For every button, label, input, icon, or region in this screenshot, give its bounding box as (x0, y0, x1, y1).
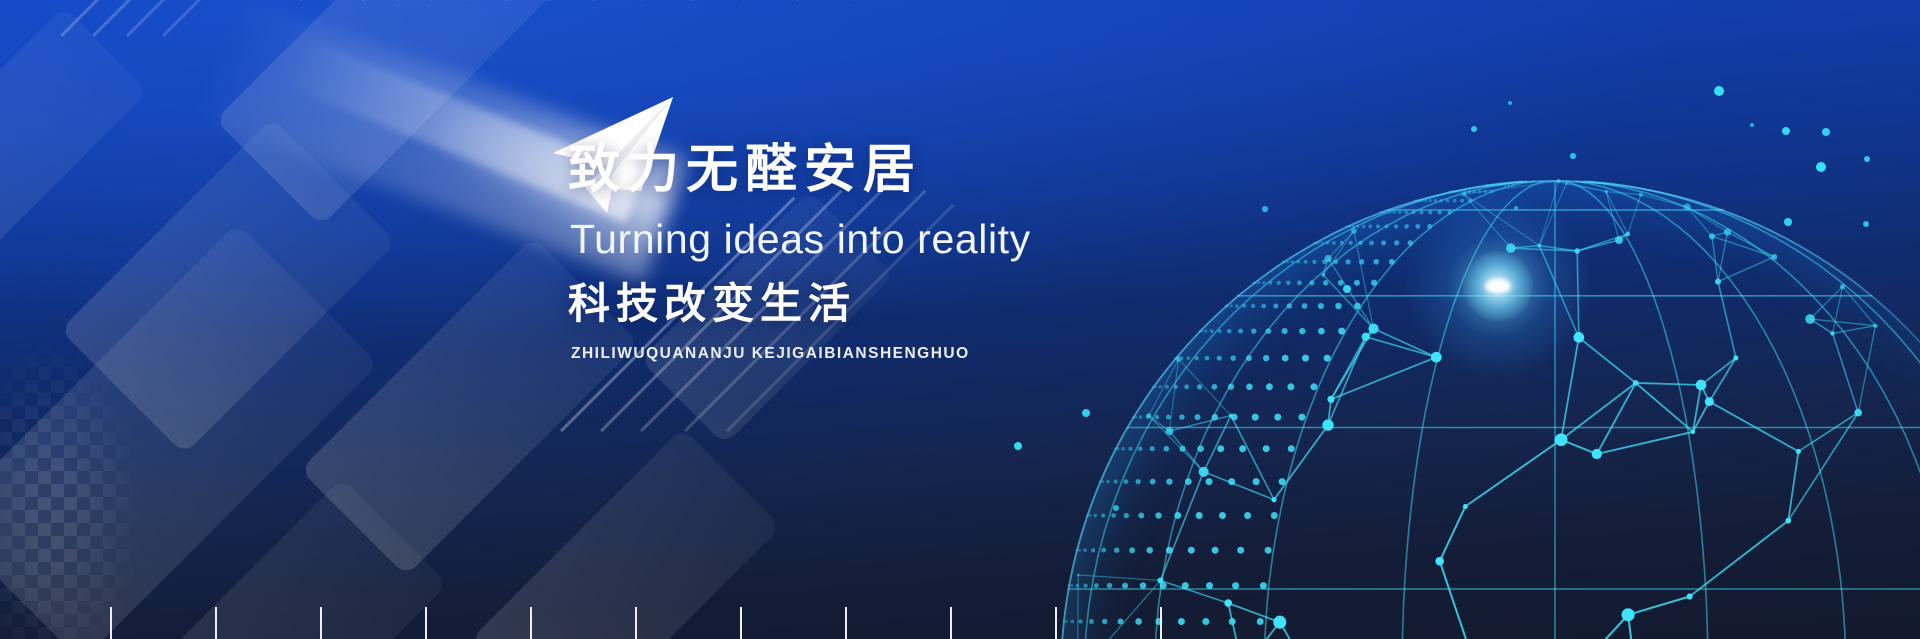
diagonal-hairline (362, 0, 972, 1)
ruler-tick (635, 607, 637, 639)
ruler-tick (530, 607, 532, 639)
ruler-tick (110, 607, 112, 639)
ruler-tick (950, 607, 952, 639)
ruler-tick (740, 607, 742, 639)
star-dot (1570, 153, 1575, 158)
ruler-tick (1160, 607, 1162, 639)
diagonal-hairline (396, 0, 1020, 1)
ruler-tick (845, 607, 847, 639)
star-dot (1864, 156, 1871, 163)
diagonal-hairline (796, 0, 1420, 1)
diagonal-hairline (690, 0, 1342, 1)
diagonal-hairline (430, 0, 1068, 1)
star-dot (1816, 162, 1827, 173)
diagonal-hairline (852, 0, 1454, 1)
diagonal-hairline (640, 0, 1299, 1)
diagonal-hairline (548, 0, 1207, 1)
diamond-dot-pattern (0, 250, 420, 639)
star-dot (1714, 86, 1724, 96)
diagonal-hairline (592, 0, 1251, 1)
ruler-tick (320, 607, 322, 639)
star-dot (1822, 128, 1830, 136)
ruler-tick (215, 607, 217, 639)
ruler-tick (425, 607, 427, 639)
ruler-tick (1055, 607, 1057, 639)
diagonal-hairline (300, 0, 881, 1)
bottom-tick-ruler (0, 595, 1920, 639)
light-flare-icon (1497, 285, 1499, 287)
diagonal-hairline (742, 0, 1380, 1)
star-dot (1750, 123, 1755, 128)
diagonal-hairline (466, 0, 1111, 1)
star-dot (1014, 442, 1023, 451)
star-dot (1471, 126, 1477, 132)
star-dot (1782, 127, 1790, 135)
star-dot (1508, 101, 1512, 105)
diagonal-hairline (505, 0, 1157, 1)
diagonal-hairline (330, 0, 925, 1)
hero-banner: 致力无醛安居 Turning ideas into reality 科技改变生活… (0, 0, 1920, 639)
diagonal-slab (0, 223, 378, 639)
